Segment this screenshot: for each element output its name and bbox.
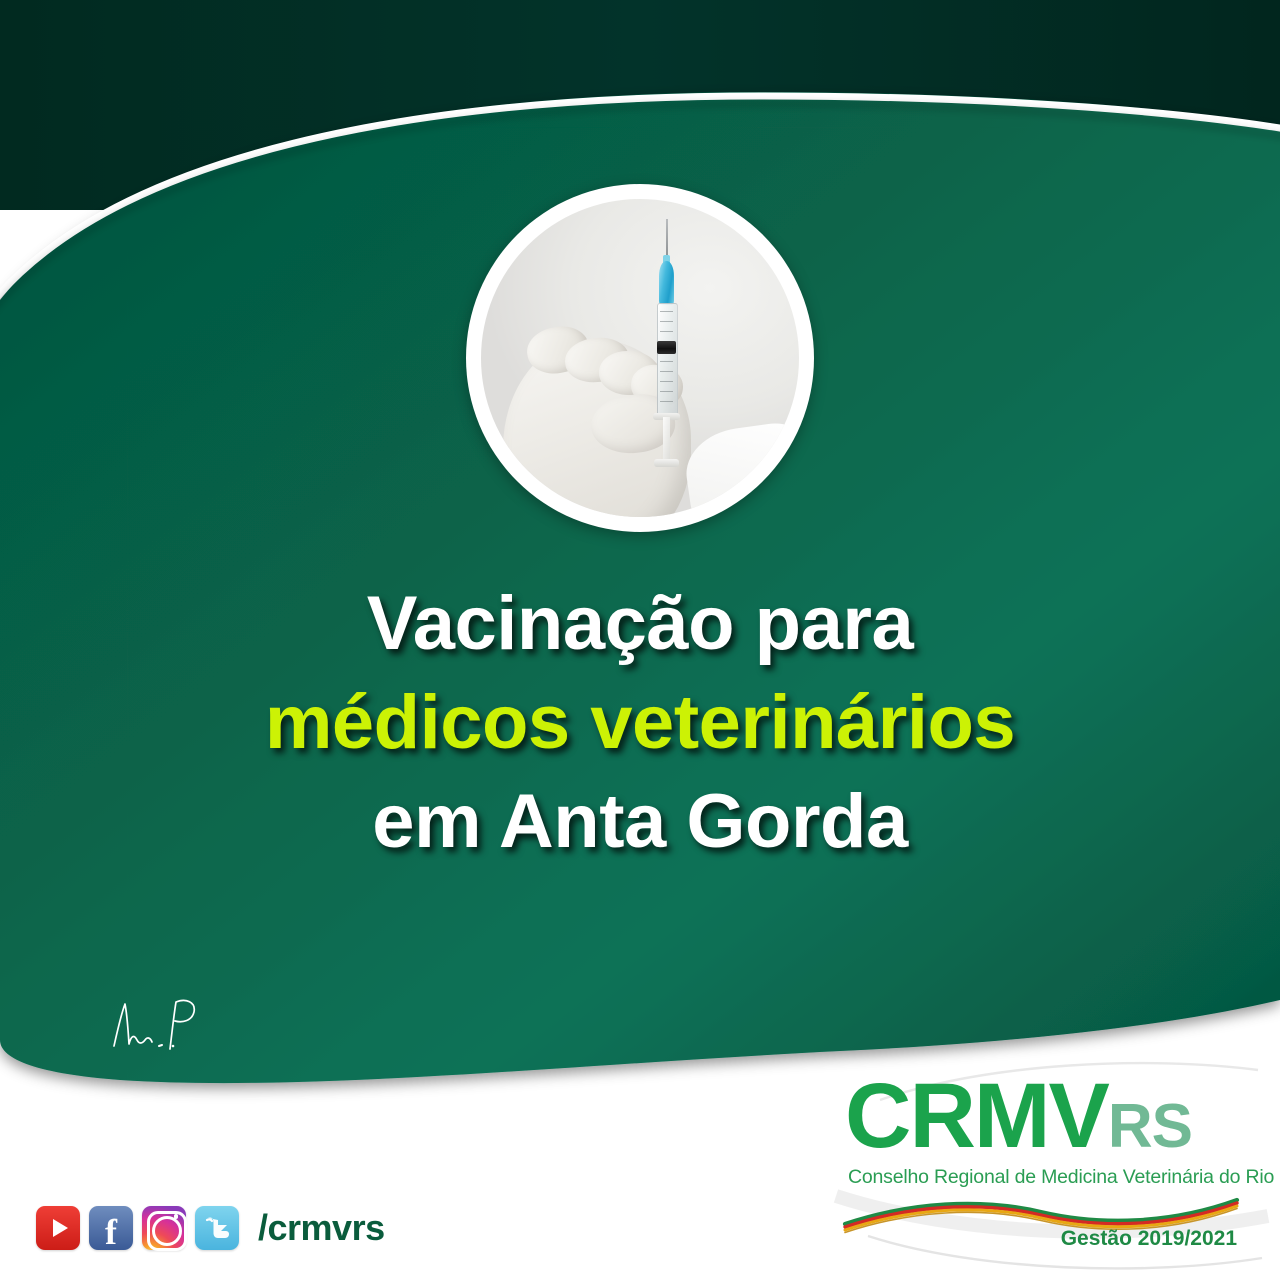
headline-line-3: em Anta Gorda: [0, 773, 1280, 872]
logo-term-text: Gestão 2019/2021: [1061, 1227, 1237, 1251]
syringe-icon: [652, 219, 682, 471]
plunger-thumb-rest: [654, 459, 679, 467]
headline: Vacinação para médicos veterinários em A…: [0, 575, 1280, 871]
graduation-marks: [660, 311, 673, 403]
instagram-lens: [152, 1216, 182, 1246]
plunger-seal: [657, 341, 676, 354]
twitter-bird-glyph: [195, 1206, 239, 1250]
facebook-icon[interactable]: f: [89, 1206, 133, 1250]
instagram-dot: [174, 1214, 179, 1219]
signature-mark: [104, 994, 214, 1056]
photo-circle: [466, 184, 814, 532]
twitter-icon[interactable]: [195, 1206, 239, 1250]
needle-cap: [659, 261, 674, 305]
poster-canvas: Vacinação para médicos veterinários em A…: [0, 0, 1280, 1280]
logo-crmv-text: CRMV: [845, 1065, 1108, 1167]
plunger-rod: [663, 417, 670, 463]
instagram-icon[interactable]: [142, 1206, 186, 1250]
headline-line-1: Vacinação para: [0, 575, 1280, 674]
logo-subtitle: Conselho Regional de Medicina Veterinári…: [848, 1166, 1280, 1189]
needle: [666, 219, 668, 257]
youtube-icon[interactable]: [36, 1206, 80, 1250]
syringe-photo: [481, 199, 799, 517]
crmvrs-logo: CRMVRS Conselho Regional de Medicina Vet…: [845, 1070, 1245, 1260]
logo-rs-text: RS: [1108, 1092, 1192, 1161]
logo-wordmark: CRMVRS: [845, 1070, 1192, 1162]
headline-line-2: médicos veterinários: [0, 674, 1280, 773]
social-links[interactable]: f /crmvrs: [36, 1206, 385, 1250]
facebook-f-glyph: f: [89, 1206, 133, 1250]
sleeve: [681, 419, 799, 517]
social-handle[interactable]: /crmvrs: [258, 1207, 385, 1249]
